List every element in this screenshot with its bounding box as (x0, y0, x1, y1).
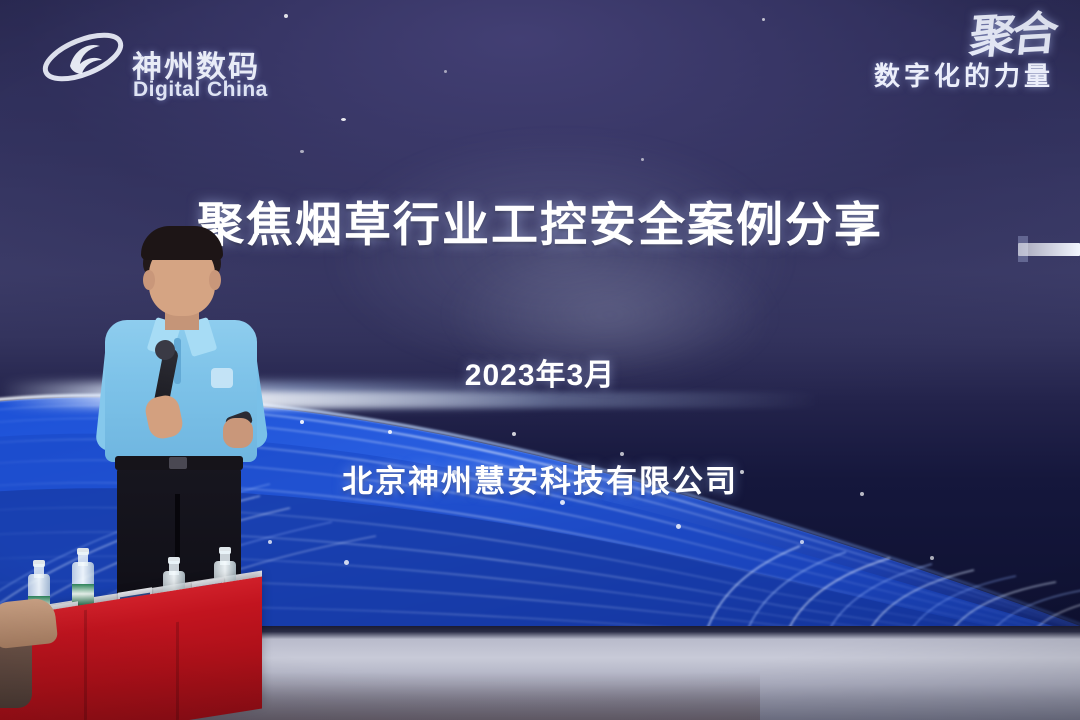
light-particle (800, 540, 804, 544)
light-particle (300, 420, 304, 424)
light-particle (762, 18, 765, 21)
speaker-ear-left (143, 270, 155, 290)
light-particle (388, 430, 392, 434)
speaker-shirt-emblem (211, 368, 233, 388)
speaker-hand-right (223, 418, 253, 448)
table-cloth-fold (176, 622, 179, 720)
event-brand-calligraphy: 聚合 (967, 12, 1056, 60)
light-particle (284, 14, 288, 18)
light-particle (930, 556, 934, 560)
light-particle (512, 432, 516, 436)
event-brand: 聚合 数字化的力量 (804, 14, 1054, 114)
speaker (95, 228, 285, 628)
speaker-hair-top (141, 226, 223, 260)
digital-china-swirl-logo-icon (40, 26, 126, 88)
conference-photo: 神州数码 Digital China 聚合 数字化的力量 聚焦烟草行业工控安全案… (0, 0, 1080, 720)
event-brand-tagline: 数字化的力量 (804, 56, 1054, 93)
light-particle (676, 524, 681, 529)
foreground-attendee-hand (0, 597, 58, 649)
speaker-belt-buckle (169, 457, 187, 469)
table-cloth-fold (84, 610, 87, 720)
digital-china-logo: 神州数码 Digital China (40, 20, 285, 92)
light-particle (300, 150, 304, 153)
speaker-ear-right (209, 270, 221, 290)
light-particle (341, 118, 346, 121)
light-particle (344, 560, 349, 565)
light-particle (641, 158, 644, 161)
logo-english-name: Digital China (133, 78, 268, 102)
light-particle (444, 70, 447, 73)
